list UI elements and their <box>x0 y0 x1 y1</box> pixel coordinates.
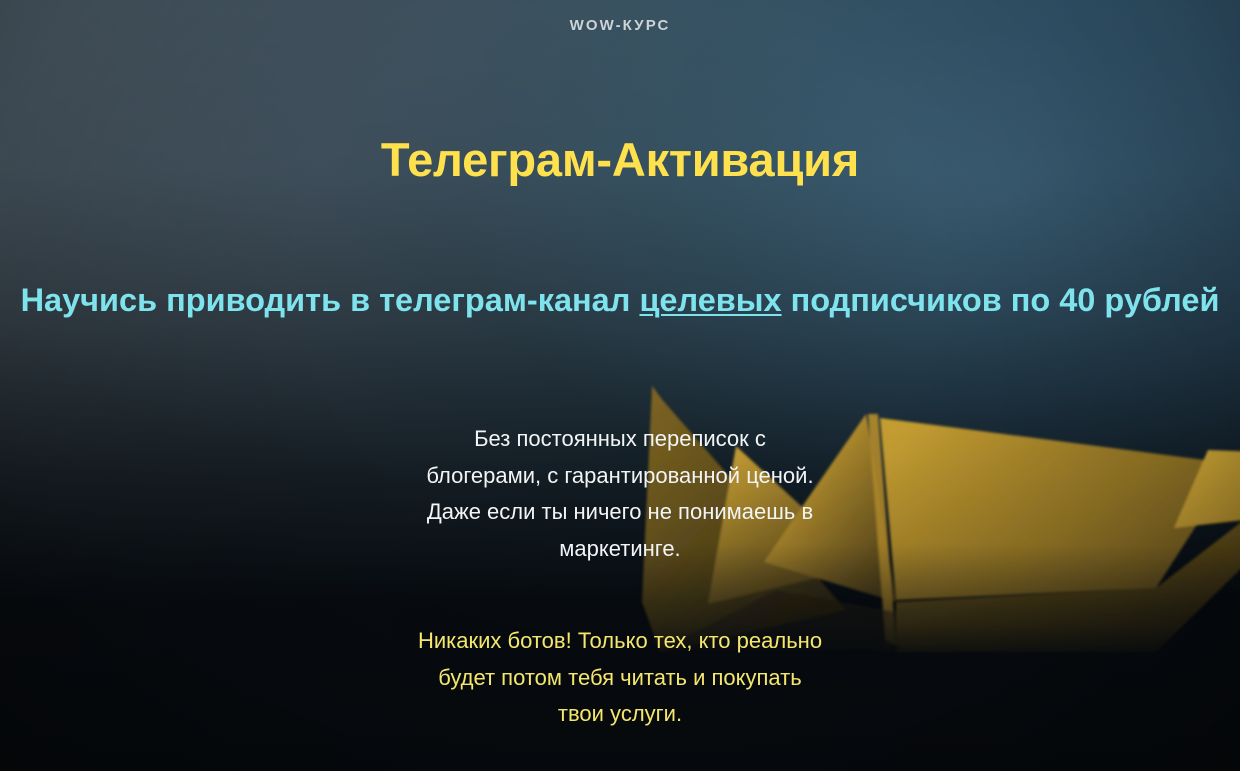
page-title: Телеграм-Активация <box>0 132 1240 188</box>
paragraph-yellow-line-2: будет потом тебя читать и покупать <box>0 660 1240 697</box>
subtitle-underlined-word: целевых <box>639 282 781 318</box>
subtitle-line1-after: подписчиков по <box>782 282 1051 318</box>
paragraph-white: Без постоянных переписок с блогерами, с … <box>0 421 1240 567</box>
subtitle-line1-before: Научись приводить в телеграм-канал <box>21 282 640 318</box>
paragraph-yellow-line-1: Никаких ботов! Только тех, кто реально <box>0 623 1240 660</box>
paragraph-white-line-2: блогерами, с гарантированной ценой. <box>0 458 1240 495</box>
paragraph-yellow: Никаких ботов! Только тех, кто реально б… <box>0 623 1240 733</box>
hero-content: WOW-КУРС Телеграм-Активация Научись прив… <box>0 0 1240 771</box>
paragraph-yellow-line-3: твои услуги. <box>0 696 1240 733</box>
page-subtitle: Научись приводить в телеграм-канал целев… <box>20 270 1220 330</box>
paragraph-white-line-1: Без постоянных переписок с <box>0 421 1240 458</box>
subtitle-line2: 40 рублей <box>1059 282 1219 318</box>
paragraph-white-line-4: маркетинге. <box>0 531 1240 568</box>
paragraph-white-line-3: Даже если ты ничего не понимаешь в <box>0 494 1240 531</box>
hero-section: WOW-КУРС Телеграм-Активация Научись прив… <box>0 0 1240 771</box>
brand-kicker: WOW-КУРС <box>0 17 1240 34</box>
